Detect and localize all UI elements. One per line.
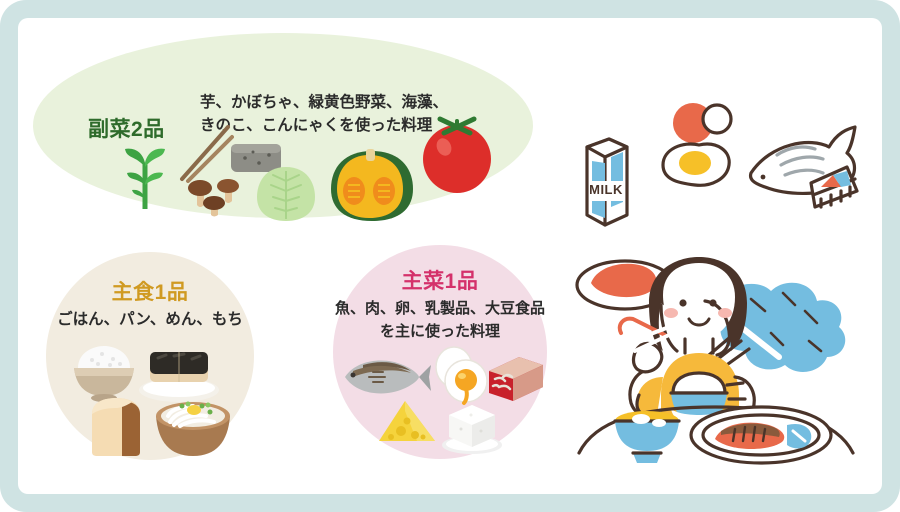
staple-food-title: 主食1品 (46, 276, 254, 306)
group-staple-food: 主食1品 ごはん、パン、めん、もち (46, 252, 254, 460)
illustration-woman-eating-meal: MILK (565, 95, 885, 465)
fried-egg-icon (663, 144, 729, 185)
side-dish-description: 芋、かぼちゃ、緑黄色野菜、海藻、 きのこ、こんにゃくを使った料理 (200, 91, 448, 138)
soup-bowl-icon (615, 411, 679, 463)
tofu-icon (437, 399, 507, 457)
group-side-dish: 副菜2品 芋、かぼちゃ、緑黄色野菜、海藻、 きのこ、こんにゃくを使った料理 (33, 33, 533, 218)
tomato-icon (418, 111, 496, 195)
seaweed-icon (121, 143, 169, 209)
cabbage-icon (255, 165, 317, 223)
tomato-circles-icon (673, 103, 731, 143)
boiled-egg-icon (430, 345, 492, 407)
main-dish-title: 主菜1品 (333, 265, 547, 295)
mushrooms-icon (187, 161, 253, 217)
milk-carton-label: MILK (589, 182, 623, 197)
udon-noodles-icon (152, 392, 234, 462)
whole-fish-icon (339, 351, 433, 401)
rice-bowl-icon (68, 340, 140, 404)
group-main-dish: 主菜1品 魚、肉、卵、乳製品、大豆食品 を主に使った料理 (333, 245, 547, 459)
kabocha-pumpkin-icon (329, 145, 415, 223)
bread-slice-icon (78, 396, 154, 458)
poster: 副菜2品 芋、かぼちゃ、緑黄色野菜、海藻、 きのこ、こんにゃくを使った料理 (0, 0, 900, 512)
main-dish-description: 魚、肉、卵、乳製品、大豆食品 を主に使った料理 (333, 298, 547, 343)
staple-food-description: ごはん、パン、めん、もち (46, 308, 254, 331)
cheese-wedge-icon (371, 397, 439, 449)
grilled-fish-plate-icon (691, 407, 831, 463)
side-dish-title: 副菜2品 (88, 113, 165, 143)
meat-block-icon (485, 353, 547, 405)
